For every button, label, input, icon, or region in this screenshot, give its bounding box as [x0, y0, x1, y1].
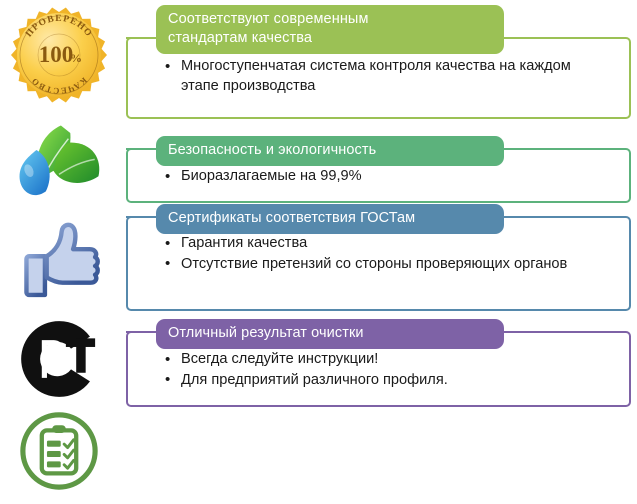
infographic-root: ПРОВЕРЕНО КАЧЕСТВО 100 % — [0, 0, 637, 504]
bullet-item: Отсутствие претензий со стороны проверяю… — [162, 255, 602, 275]
rst-gost-certification-mark-icon — [0, 316, 118, 402]
section-bullet-list: Многоступенчатая система контроля качест… — [162, 57, 602, 97]
bullet-item: Всегда следуйте инструкции! — [162, 350, 602, 370]
quality-seal-100-icon: ПРОВЕРЕНО КАЧЕСТВО 100 % — [0, 6, 118, 104]
section-header-pill[interactable]: Отличный результат очистки — [156, 319, 504, 349]
svg-text:100: 100 — [39, 42, 74, 67]
section-bullet-list: Гарантия качестваОтсутствие претензий со… — [162, 234, 602, 275]
bullet-item: Биоразлагаемые на 99,9% — [162, 167, 602, 187]
bullet-item: Многоступенчатая система контроля качест… — [162, 57, 602, 96]
thumbs-up-icon — [0, 214, 118, 302]
section-bullet-list: Всегда следуйте инструкции!Для предприят… — [162, 350, 602, 391]
checklist-clipboard-icon — [0, 408, 118, 494]
section-bullet-list: Биоразлагаемые на 99,9% — [162, 167, 602, 188]
sections-column: Соответствуют современным стандартам кач… — [118, 0, 637, 504]
bullet-item: Для предприятий различного профиля. — [162, 371, 602, 391]
section-header-pill[interactable]: Сертификаты соответствия ГОСТам — [156, 204, 504, 234]
eco-leaf-waterdrop-icon — [0, 118, 118, 212]
section-header-pill[interactable]: Соответствуют современным стандартам кач… — [156, 5, 504, 54]
bullet-item: Гарантия качества — [162, 234, 602, 254]
section-header-pill[interactable]: Безопасность и экологичность — [156, 136, 504, 166]
icon-column: ПРОВЕРЕНО КАЧЕСТВО 100 % — [0, 0, 118, 504]
svg-text:%: % — [70, 51, 82, 65]
section-connector-line — [126, 331, 158, 333]
